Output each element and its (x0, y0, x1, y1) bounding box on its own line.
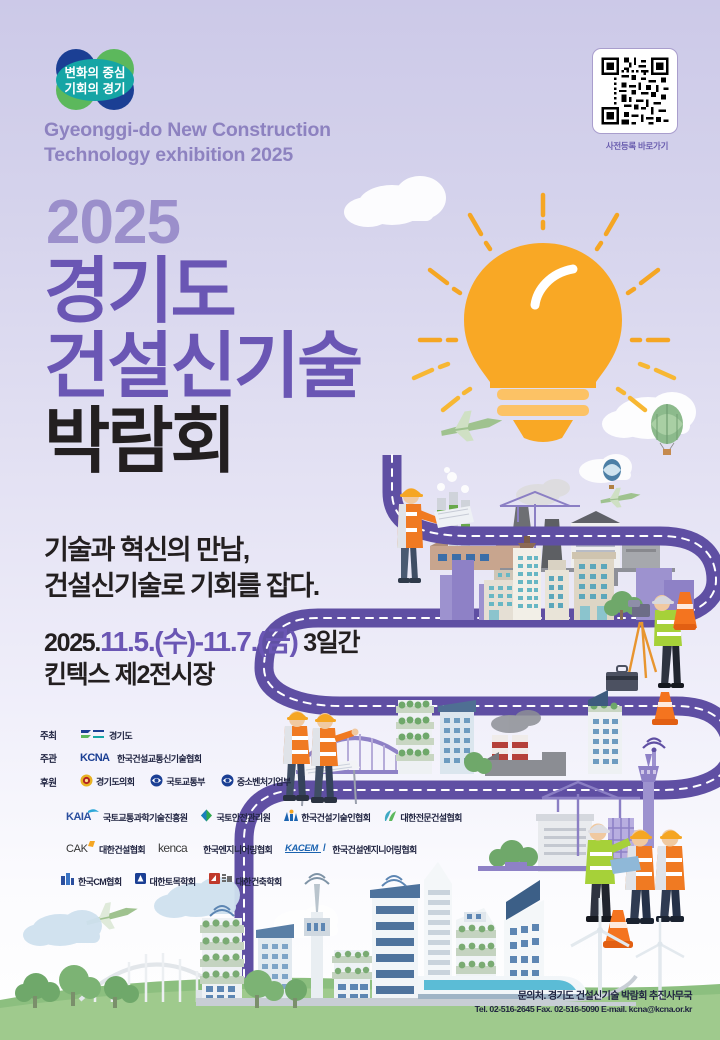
partners-row-4: 한국CM협회 대한토목학회 (60, 872, 490, 890)
footer-office: 문의처. 경기도 건설신기술 박람회 추진사무국 (430, 990, 692, 1003)
qr-caption: 사전등록 바로가기 (592, 140, 682, 152)
government-emblem-icon (150, 774, 163, 789)
footer-contact-line: Tel. 02-516-2645 Fax. 02-516-5090 E-mail… (430, 1003, 692, 1016)
kaia-wordmark-icon: KAIA (66, 808, 100, 827)
cloud-icon (344, 176, 446, 227)
host-row: 주최 경기도 (40, 728, 480, 742)
airplane-icon (84, 897, 141, 934)
org-name: 한국엔지니어링협회 (203, 843, 272, 856)
host-label: 주최 (40, 728, 80, 742)
org-name: 중소벤처기업부 (237, 775, 291, 788)
event-date: 2025.11.5.(수)-11.7.(금) 3일간 (44, 620, 359, 660)
traffic-cone-icon (603, 910, 633, 948)
title-line3: 박람회 (44, 405, 464, 480)
industrial-complex (430, 467, 675, 586)
org-name: 한국건설교통신기술협회 (117, 752, 201, 765)
airplane-icon (599, 486, 641, 510)
partners-row-2: KAIA 국토교통과학기술진흥원 국토안전관리원 (66, 808, 496, 827)
construction-worker (655, 830, 685, 923)
footer-contact: 문의처. 경기도 건설신기술 박람회 추진사무국 Tel. 02-516-264… (430, 990, 692, 1016)
org-cmak: 한국CM협회 (60, 872, 122, 890)
org-name: 대한건축학회 (236, 875, 282, 888)
organizer-label: 주관 (40, 751, 80, 765)
hot-air-balloon-icon (603, 459, 621, 489)
tree-icon (489, 840, 538, 867)
kcna-wordmark-icon: KCNA (80, 751, 114, 765)
leaf-arrow-icon (383, 809, 397, 827)
org-name: 한국CM협회 (78, 875, 122, 888)
org-kosca: 대한전문건설협회 (383, 809, 461, 827)
cloud-icon (602, 392, 696, 439)
crane-icon (500, 492, 580, 570)
organisers-block: 주최 경기도 주관 (40, 728, 480, 798)
kcea-icon (283, 809, 298, 827)
qr-registration-block[interactable]: 사전등록 바로가기 (592, 48, 682, 152)
page-title: 경기도 건설신기술 박람회 (44, 255, 464, 480)
org-name: 한국건설엔지니어링협회 (332, 843, 416, 856)
wind-turbine-icon (636, 918, 684, 1000)
svg-text:CAK: CAK (66, 843, 89, 854)
org-gyeonggi-council: 경기도의회 (80, 774, 134, 789)
cak-wordmark-icon: CAK (66, 840, 96, 859)
tree-icon (604, 591, 643, 616)
svg-text:KAIA: KAIA (66, 811, 91, 822)
org-kenca: kenca 한국엔지니어링협회 (158, 840, 272, 859)
logo-line1: 변화의 중심 (65, 65, 126, 80)
title-line1: 경기도 (44, 255, 464, 330)
sponsor-label: 후원 (40, 775, 80, 789)
tagline: 기술과 혁신의 만남, 건설신기술로 기회를 잡다. (44, 532, 464, 604)
org-gyeonggi-do: 경기도 (80, 728, 132, 742)
tree-icon (15, 965, 307, 1008)
wifi-icon (210, 906, 234, 916)
title-line2: 건설신기술 (44, 330, 464, 405)
logo-line2: 기회의 경기 (65, 81, 126, 96)
svg-text:/: / (323, 843, 326, 854)
english-title-line2: Technology exhibition 2025 (44, 143, 444, 168)
qr-code[interactable] (592, 48, 678, 134)
org-name: 대한건설협회 (99, 843, 145, 856)
hot-air-balloon-icon (651, 404, 683, 455)
kacem-wordmark-icon: KACEM / (285, 840, 329, 859)
kenca-wordmark-icon: kenca (158, 840, 200, 859)
tagline-line2: 건설신기술로 기회를 잡다. (44, 568, 464, 604)
org-kacem: KACEM / 한국건설엔지니어링협회 (285, 840, 416, 859)
date-range: 11.5.(수)-11.7.(금) (100, 626, 298, 657)
date-prefix: 2025. (44, 629, 100, 657)
english-title: Gyeonggi-do New Construction Technology … (44, 118, 444, 168)
construction-site-lower (478, 754, 685, 948)
event-venue: 킨텍스 제2전시장 (44, 655, 214, 691)
org-name: 국토교통과학기술진흥원 (103, 811, 187, 824)
construction-worker (585, 824, 631, 923)
wind-turbine-icon (571, 898, 629, 1000)
sponsor-row: 후원 경기도의회 (40, 774, 480, 789)
org-name: 대한전문건설협회 (400, 811, 461, 824)
org-mss: 중소벤처기업부 (221, 774, 291, 789)
org-name: 대한토목학회 (150, 875, 196, 888)
surveyor-worker (606, 592, 697, 725)
cloud-icon (23, 910, 102, 946)
org-name: 경기도 (109, 729, 132, 742)
org-name: 국토안전관리원 (216, 811, 270, 824)
org-aik: 대한건축학회 (209, 872, 282, 890)
wifi-tower-icon (643, 739, 665, 749)
org-cak: CAK 대한건설협회 (66, 840, 145, 859)
org-name: 경기도의회 (96, 775, 134, 788)
org-name: 한국건설기술인협회 (301, 811, 370, 824)
ksce-icon (135, 872, 147, 890)
cloud-icon (579, 454, 632, 483)
svg-text:kenca: kenca (158, 841, 188, 854)
gyeonggi-wordmark-icon (80, 728, 106, 742)
gyeonggi-brand-logo: 변화의 중심 기회의 경기 (42, 46, 154, 114)
svg-text:KCNA: KCNA (80, 752, 110, 763)
org-ksce: 대한토목학회 (135, 872, 196, 890)
org-kcea: 한국건설기술인협회 (283, 809, 370, 827)
traffic-cone-icon (652, 692, 678, 725)
org-molit: 국토교통부 (150, 774, 204, 789)
date-suffix: 3일간 (298, 629, 360, 657)
construction-worker (610, 830, 655, 925)
english-title-line1: Gyeonggi-do New Construction (44, 118, 444, 143)
org-kalis: 국토안전관리원 (200, 809, 270, 827)
cloud-icon (274, 905, 338, 938)
org-name: 국토교통부 (166, 775, 204, 788)
cmak-icon (60, 872, 75, 890)
title-year: 2025 (46, 192, 180, 254)
org-kcna: KCNA 한국건설교통신기술협회 (80, 751, 201, 765)
emblem-gold-icon (80, 774, 93, 789)
lightbulb-icon (464, 243, 622, 442)
org-kaia: KAIA 국토교통과학기술진흥원 (66, 808, 187, 827)
traffic-cone-icon (673, 592, 697, 630)
city-skyline (440, 536, 694, 620)
partners-row-3: CAK 대한건설협회 kenca 한국엔지니어링협회 KACEM / (66, 840, 496, 859)
diamond-green-icon (200, 809, 213, 827)
crane-icon (542, 782, 640, 856)
government-emblem-icon (221, 774, 234, 789)
organizer-row: 주관 KCNA 한국건설교통신기술협회 (40, 751, 480, 765)
tagline-line1: 기술과 혁신의 만남, (44, 532, 464, 568)
poster-canvas: 변화의 중심 기회의 경기 Gyeonggi-do New Constructi… (0, 0, 720, 1040)
aik-icon (209, 872, 233, 890)
